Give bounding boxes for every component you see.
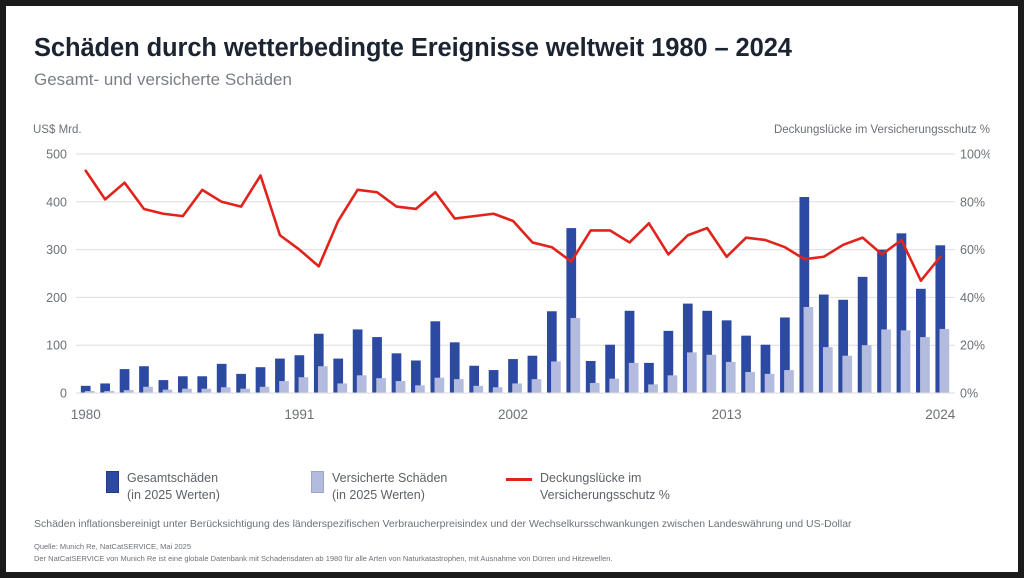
bar-insured-damage (765, 374, 775, 393)
bar-insured-damage (279, 381, 289, 393)
y2-axis-tick-label: 80% (960, 195, 985, 209)
line-protection-gap (86, 171, 941, 281)
bar-insured-damage (396, 381, 406, 393)
left-axis-title: US$ Mrd. (33, 124, 82, 136)
chart-source-line-1: Quelle: Munich Re, NatCatSERVICE, Mai 20… (34, 542, 191, 551)
bar-insured-damage (299, 377, 309, 393)
x-axis-tick-label: 2013 (712, 407, 742, 422)
legend-label-protection-gap-line1: Deckungslücke im (540, 470, 670, 487)
y-axis-tick-label: 0 (60, 387, 67, 401)
bar-insured-damage (143, 387, 153, 393)
bar-insured-damage (337, 383, 347, 393)
x-axis-tick-label: 1980 (71, 407, 101, 422)
legend-label-protection-gap-line2: Versicherungsschutz % (540, 487, 670, 504)
legend-label-insured-damage-line2: (in 2025 Werten) (332, 487, 447, 504)
page-subtitle: Gesamt- und versicherte Schäden (34, 70, 292, 90)
bar-insured-damage (357, 375, 367, 393)
combo-chart: 01002003004005000%20%40%60%80%100%198019… (34, 146, 990, 431)
bar-insured-damage (901, 330, 911, 393)
bar-insured-damage (862, 345, 872, 393)
bar-insured-damage (648, 384, 658, 393)
legend-label-insured-damage-line1: Versicherte Schäden (332, 470, 447, 487)
bar-insured-damage (784, 370, 794, 393)
bar-insured-damage (221, 387, 231, 393)
bar-insured-damage (881, 329, 891, 393)
bar-insured-damage (260, 387, 270, 393)
y-axis-tick-label: 300 (46, 243, 67, 257)
legend-label-insured-damage: Versicherte Schäden (in 2025 Werten) (332, 470, 447, 503)
bar-insured-damage (163, 390, 173, 393)
bar-insured-damage (629, 363, 639, 393)
legend-label-total-damage-line1: Gesamtschäden (127, 470, 220, 487)
bar-insured-damage (570, 318, 580, 393)
bar-insured-damage (493, 387, 503, 393)
bar-insured-damage (842, 356, 852, 393)
legend-swatch-total-damage (106, 471, 119, 493)
bar-insured-damage (551, 361, 561, 393)
bar-insured-damage (609, 379, 619, 393)
bar-insured-damage (804, 307, 814, 393)
legend-item-deckungsluecke[interactable]: Deckungslücke im Versicherungsschutz % (506, 470, 670, 503)
y2-axis-tick-label: 60% (960, 243, 985, 257)
bar-insured-damage (318, 366, 328, 393)
bar-insured-damage (940, 329, 950, 393)
bar-insured-damage (590, 383, 600, 393)
bar-insured-damage (920, 337, 930, 393)
y2-axis-tick-label: 0% (960, 387, 978, 401)
chart-card: Schäden durch wetterbedingte Ereignisse … (6, 6, 1018, 572)
bar-insured-damage (745, 372, 755, 393)
page-title: Schäden durch wetterbedingte Ereignisse … (34, 34, 792, 63)
y2-axis-tick-label: 20% (960, 339, 985, 353)
bar-insured-damage (512, 383, 522, 393)
legend-label-total-damage-line2: (in 2025 Werten) (127, 487, 220, 504)
y-axis-tick-label: 500 (46, 148, 67, 162)
y2-axis-tick-label: 40% (960, 291, 985, 305)
chart-legend: Gesamtschäden (in 2025 Werten) Versicher… (106, 470, 966, 516)
x-axis-tick-label: 1991 (284, 407, 314, 422)
bar-total-damage (120, 369, 130, 393)
right-axis-title: Deckungslücke im Versicherungsschutz % (774, 124, 990, 136)
bar-insured-damage (726, 362, 736, 393)
legend-item-versicherte-schaeden[interactable]: Versicherte Schäden (in 2025 Werten) (311, 470, 447, 503)
chart-source-line-2: Der NatCatSERVICE von Munich Re ist eine… (34, 554, 613, 563)
legend-swatch-protection-gap-line (506, 470, 532, 492)
x-axis-tick-label: 2024 (925, 407, 956, 422)
bar-insured-damage (182, 389, 192, 393)
bar-insured-damage (706, 355, 716, 393)
bar-insured-damage (376, 378, 386, 393)
screenshot-frame: Schäden durch wetterbedingte Ereignisse … (0, 0, 1024, 578)
legend-label-protection-gap: Deckungslücke im Versicherungsschutz % (540, 470, 670, 503)
legend-item-gesamtschaeden[interactable]: Gesamtschäden (in 2025 Werten) (106, 470, 220, 503)
bar-insured-damage (435, 378, 445, 393)
bar-insured-damage (415, 385, 425, 393)
y-axis-tick-label: 100 (46, 339, 67, 353)
y-axis-tick-label: 400 (46, 195, 67, 209)
bar-insured-damage (473, 386, 483, 393)
bar-insured-damage (687, 352, 697, 393)
bar-insured-damage (823, 347, 833, 393)
bar-insured-damage (201, 389, 211, 393)
bar-insured-damage (668, 375, 678, 393)
legend-swatch-insured-damage (311, 471, 324, 493)
chart-footnote: Schäden inflationsbereinigt unter Berück… (34, 518, 852, 530)
bar-insured-damage (454, 379, 464, 393)
bar-insured-damage (532, 379, 542, 393)
chart-plot-area: 01002003004005000%20%40%60%80%100%198019… (34, 146, 990, 431)
y2-axis-tick-label: 100% (960, 148, 990, 162)
legend-label-total-damage: Gesamtschäden (in 2025 Werten) (127, 470, 220, 503)
bar-insured-damage (240, 389, 250, 393)
x-axis-tick-label: 2002 (498, 407, 528, 422)
y-axis-tick-label: 200 (46, 291, 67, 305)
